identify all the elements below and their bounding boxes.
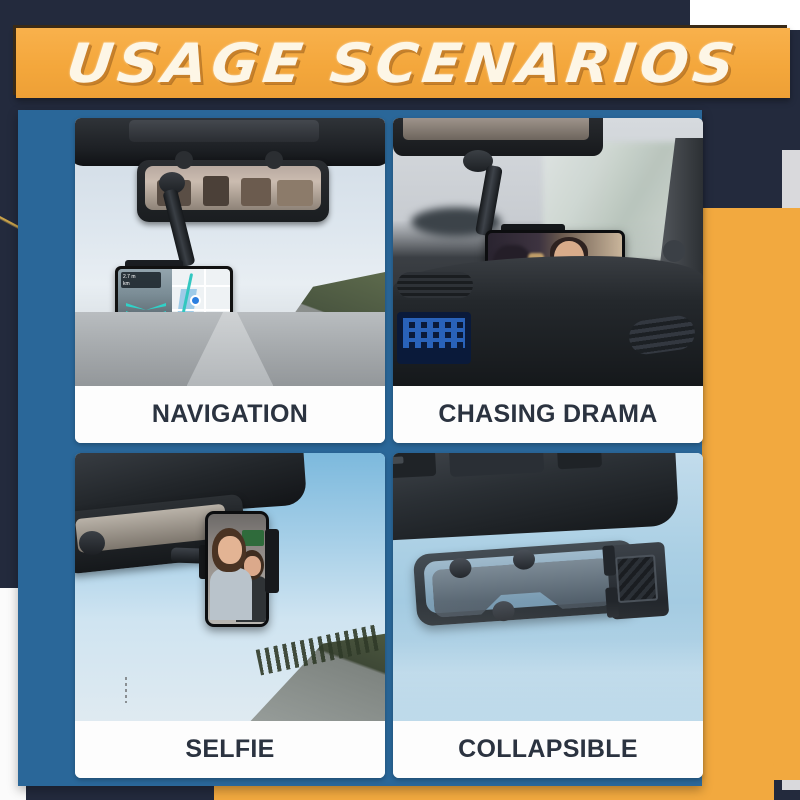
roadside-pole: [125, 677, 127, 703]
highway-road: [75, 312, 385, 386]
scenario-photo-chasing-drama: [393, 118, 703, 386]
mirror-reflection-seat: [277, 180, 313, 206]
overhead-console-left: [393, 453, 436, 479]
scenario-card-selfie[interactable]: SELFIE: [75, 453, 385, 778]
overhead-console-right: [557, 453, 602, 469]
mirror-knob-right: [265, 151, 283, 169]
mount-pivot-joint: [79, 531, 105, 555]
scenario-label-selfie: SELFIE: [185, 735, 274, 764]
mounted-phone: [205, 511, 269, 627]
scenario-photo-navigation: 2.7 m km: [75, 118, 385, 386]
product-infographic: USAGE SCENARIOS: [0, 0, 800, 800]
map-road-line: [172, 285, 230, 287]
windshield-sky-glow: [393, 601, 703, 721]
scenario-card-navigation[interactable]: 2.7 m km: [75, 118, 385, 443]
selfie-person1-body: [210, 568, 252, 620]
clamp-grip-pad: [615, 554, 658, 603]
selfie-person1-face: [218, 536, 242, 564]
car-headliner: [75, 118, 385, 166]
phone-screen-selfie: [208, 514, 266, 624]
scenario-label-navigation: NAVIGATION: [152, 400, 308, 429]
overhead-console-center: [449, 453, 544, 477]
scenario-label-bar: SELFIE: [75, 721, 385, 778]
scenario-photo-collapsible: [393, 453, 703, 721]
navigation-distance-hud: 2.7 m km: [121, 272, 161, 288]
page-title: USAGE SCENARIOS: [64, 32, 742, 95]
hud-distance-value: 2.7 m: [123, 274, 159, 281]
map-current-position-pin: [190, 295, 201, 306]
map-road-line: [172, 309, 230, 311]
scenario-card-grid: 2.7 m km: [75, 118, 703, 778]
cards-frame: 2.7 m km: [18, 110, 702, 786]
scenario-card-chasing-drama[interactable]: CHASING DRAMA: [393, 118, 703, 443]
scenario-label-bar: CHASING DRAMA: [393, 386, 703, 443]
mirror-glass: [403, 118, 589, 140]
rearview-mirror: [393, 118, 603, 156]
scenario-label-chasing-drama: CHASING DRAMA: [438, 400, 657, 429]
phone-clamp-right: [265, 529, 279, 593]
title-banner: USAGE SCENARIOS: [16, 28, 790, 98]
dashboard-knob: [663, 240, 685, 262]
car-headliner: [393, 453, 679, 541]
scenario-photo-selfie: [75, 453, 385, 721]
mirror-knob-left: [175, 151, 193, 169]
scenario-label-bar: COLLAPSIBLE: [393, 721, 703, 778]
mirror-reflection-seat: [241, 178, 271, 206]
scenario-label-collapsible: COLLAPSIBLE: [458, 735, 638, 764]
scenario-card-collapsible[interactable]: COLLAPSIBLE: [393, 453, 703, 778]
clamp-arm-top: [602, 545, 616, 576]
air-vent-left: [397, 272, 473, 298]
corner-white-accent-topright: [690, 0, 800, 30]
hud-distance-unit: km: [123, 281, 159, 288]
scenario-label-bar: NAVIGATION: [75, 386, 385, 443]
mirror-reflection-seat: [203, 176, 229, 206]
infotainment-display: [397, 312, 471, 364]
